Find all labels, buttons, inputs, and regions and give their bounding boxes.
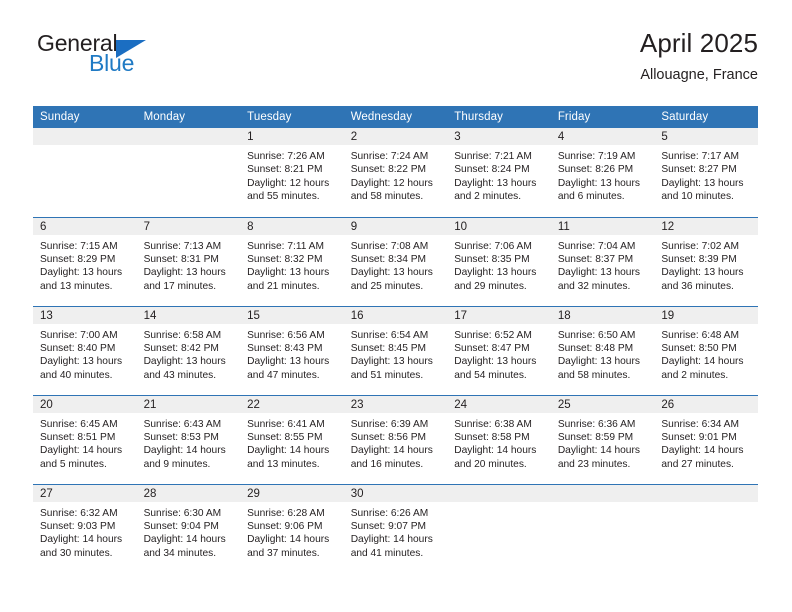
sunrise-text: Sunrise: 7:21 AM — [454, 150, 545, 163]
calendar-cell-day-8[interactable]: 8Sunrise: 7:11 AMSunset: 8:32 PMDaylight… — [240, 217, 344, 306]
daylight-text-line2: and 10 minutes. — [661, 190, 752, 203]
day-details: Sunrise: 7:06 AMSunset: 8:35 PMDaylight:… — [447, 235, 551, 294]
sunset-text: Sunset: 8:34 PM — [351, 253, 442, 266]
day-details: Sunrise: 7:19 AMSunset: 8:26 PMDaylight:… — [551, 145, 655, 204]
daylight-text-line2: and 51 minutes. — [351, 369, 442, 382]
daylight-text-line1: Daylight: 13 hours — [247, 355, 338, 368]
sunrise-text: Sunrise: 7:08 AM — [351, 240, 442, 253]
sunrise-text: Sunrise: 7:11 AM — [247, 240, 338, 253]
brand-logo[interactable]: General Blue — [33, 28, 273, 88]
day-number: 14 — [137, 307, 241, 324]
day-details: Sunrise: 7:17 AMSunset: 8:27 PMDaylight:… — [654, 145, 758, 204]
day-details: Sunrise: 6:36 AMSunset: 8:59 PMDaylight:… — [551, 413, 655, 472]
day-number: 26 — [654, 396, 758, 413]
day-number: 13 — [33, 307, 137, 324]
calendar-cell-empty — [654, 484, 758, 573]
calendar-cell-day-23[interactable]: 23Sunrise: 6:39 AMSunset: 8:56 PMDayligh… — [344, 395, 448, 484]
day-details: Sunrise: 7:08 AMSunset: 8:34 PMDaylight:… — [344, 235, 448, 294]
day-number: 7 — [137, 218, 241, 235]
daylight-text-line1: Daylight: 13 hours — [144, 266, 235, 279]
calendar-cell-day-22[interactable]: 22Sunrise: 6:41 AMSunset: 8:55 PMDayligh… — [240, 395, 344, 484]
day-details: Sunrise: 7:00 AMSunset: 8:40 PMDaylight:… — [33, 324, 137, 383]
calendar-cell-day-5[interactable]: 5Sunrise: 7:17 AMSunset: 8:27 PMDaylight… — [654, 128, 758, 217]
day-details: Sunrise: 6:30 AMSunset: 9:04 PMDaylight:… — [137, 502, 241, 561]
sunset-text: Sunset: 8:59 PM — [558, 431, 649, 444]
day-number: 27 — [33, 485, 137, 502]
day-number: 2 — [344, 128, 448, 145]
calendar-cell-day-16[interactable]: 16Sunrise: 6:54 AMSunset: 8:45 PMDayligh… — [344, 306, 448, 395]
day-details: Sunrise: 7:11 AMSunset: 8:32 PMDaylight:… — [240, 235, 344, 294]
calendar-cell-day-19[interactable]: 19Sunrise: 6:48 AMSunset: 8:50 PMDayligh… — [654, 306, 758, 395]
day-details: Sunrise: 6:56 AMSunset: 8:43 PMDaylight:… — [240, 324, 344, 383]
calendar-cell-day-11[interactable]: 11Sunrise: 7:04 AMSunset: 8:37 PMDayligh… — [551, 217, 655, 306]
daylight-text-line2: and 23 minutes. — [558, 458, 649, 471]
day-number: 10 — [447, 218, 551, 235]
sunset-text: Sunset: 8:31 PM — [144, 253, 235, 266]
weekday-header-sunday: Sunday — [33, 106, 137, 128]
daylight-text-line1: Daylight: 13 hours — [454, 355, 545, 368]
day-details: Sunrise: 7:02 AMSunset: 8:39 PMDaylight:… — [654, 235, 758, 294]
daylight-text-line1: Daylight: 13 hours — [247, 266, 338, 279]
calendar-cell-day-3[interactable]: 3Sunrise: 7:21 AMSunset: 8:24 PMDaylight… — [447, 128, 551, 217]
sunset-text: Sunset: 8:55 PM — [247, 431, 338, 444]
calendar-cell-empty — [137, 128, 241, 217]
calendar-body: 1Sunrise: 7:26 AMSunset: 8:21 PMDaylight… — [33, 128, 758, 573]
calendar-cell-empty — [447, 484, 551, 573]
calendar-cell-empty — [33, 128, 137, 217]
daylight-text-line2: and 9 minutes. — [144, 458, 235, 471]
day-number — [33, 128, 137, 145]
day-details: Sunrise: 6:32 AMSunset: 9:03 PMDaylight:… — [33, 502, 137, 561]
sunset-text: Sunset: 9:07 PM — [351, 520, 442, 533]
sunrise-text: Sunrise: 7:00 AM — [40, 329, 131, 342]
calendar-cell-day-18[interactable]: 18Sunrise: 6:50 AMSunset: 8:48 PMDayligh… — [551, 306, 655, 395]
day-number: 19 — [654, 307, 758, 324]
sunset-text: Sunset: 8:43 PM — [247, 342, 338, 355]
calendar-week-row: 1Sunrise: 7:26 AMSunset: 8:21 PMDaylight… — [33, 128, 758, 217]
calendar-cell-day-20[interactable]: 20Sunrise: 6:45 AMSunset: 8:51 PMDayligh… — [33, 395, 137, 484]
daylight-text-line2: and 41 minutes. — [351, 547, 442, 560]
sunset-text: Sunset: 8:42 PM — [144, 342, 235, 355]
daylight-text-line2: and 32 minutes. — [558, 280, 649, 293]
daylight-text-line1: Daylight: 12 hours — [351, 177, 442, 190]
day-details: Sunrise: 6:48 AMSunset: 8:50 PMDaylight:… — [654, 324, 758, 383]
day-number: 5 — [654, 128, 758, 145]
daylight-text-line1: Daylight: 13 hours — [661, 177, 752, 190]
daylight-text-line2: and 17 minutes. — [144, 280, 235, 293]
daylight-text-line1: Daylight: 13 hours — [40, 266, 131, 279]
sunrise-text: Sunrise: 6:45 AM — [40, 418, 131, 431]
calendar-week-row: 27Sunrise: 6:32 AMSunset: 9:03 PMDayligh… — [33, 484, 758, 573]
calendar-week-row: 13Sunrise: 7:00 AMSunset: 8:40 PMDayligh… — [33, 306, 758, 395]
sunrise-text: Sunrise: 6:30 AM — [144, 507, 235, 520]
sunrise-text: Sunrise: 7:24 AM — [351, 150, 442, 163]
day-details: Sunrise: 6:34 AMSunset: 9:01 PMDaylight:… — [654, 413, 758, 472]
sunrise-text: Sunrise: 6:52 AM — [454, 329, 545, 342]
sunset-text: Sunset: 9:01 PM — [661, 431, 752, 444]
sunrise-text: Sunrise: 6:28 AM — [247, 507, 338, 520]
day-details: Sunrise: 6:43 AMSunset: 8:53 PMDaylight:… — [137, 413, 241, 472]
day-details: Sunrise: 6:50 AMSunset: 8:48 PMDaylight:… — [551, 324, 655, 383]
sunrise-text: Sunrise: 7:15 AM — [40, 240, 131, 253]
day-number — [551, 485, 655, 502]
daylight-text-line2: and 37 minutes. — [247, 547, 338, 560]
daylight-text-line2: and 30 minutes. — [40, 547, 131, 560]
daylight-text-line2: and 13 minutes. — [40, 280, 131, 293]
day-details: Sunrise: 6:39 AMSunset: 8:56 PMDaylight:… — [344, 413, 448, 472]
calendar-cell-day-29[interactable]: 29Sunrise: 6:28 AMSunset: 9:06 PMDayligh… — [240, 484, 344, 573]
page-header: General Blue April 2025 Allouagne, Franc… — [33, 28, 758, 90]
day-number: 16 — [344, 307, 448, 324]
day-number: 15 — [240, 307, 344, 324]
daylight-text-line2: and 25 minutes. — [351, 280, 442, 293]
day-number: 4 — [551, 128, 655, 145]
daylight-text-line1: Daylight: 14 hours — [247, 444, 338, 457]
calendar-cell-day-27[interactable]: 27Sunrise: 6:32 AMSunset: 9:03 PMDayligh… — [33, 484, 137, 573]
calendar-cell-day-2[interactable]: 2Sunrise: 7:24 AMSunset: 8:22 PMDaylight… — [344, 128, 448, 217]
day-details: Sunrise: 7:15 AMSunset: 8:29 PMDaylight:… — [33, 235, 137, 294]
daylight-text-line2: and 58 minutes. — [558, 369, 649, 382]
daylight-text-line1: Daylight: 13 hours — [351, 266, 442, 279]
sunset-text: Sunset: 8:40 PM — [40, 342, 131, 355]
calendar-week-row: 20Sunrise: 6:45 AMSunset: 8:51 PMDayligh… — [33, 395, 758, 484]
sunset-text: Sunset: 8:35 PM — [454, 253, 545, 266]
sunset-text: Sunset: 8:24 PM — [454, 163, 545, 176]
daylight-text-line1: Daylight: 13 hours — [558, 177, 649, 190]
weekday-header-wednesday: Wednesday — [344, 106, 448, 128]
day-number: 12 — [654, 218, 758, 235]
day-details: Sunrise: 6:58 AMSunset: 8:42 PMDaylight:… — [137, 324, 241, 383]
sunrise-text: Sunrise: 6:34 AM — [661, 418, 752, 431]
day-number: 20 — [33, 396, 137, 413]
day-details: Sunrise: 6:54 AMSunset: 8:45 PMDaylight:… — [344, 324, 448, 383]
weekday-header-thursday: Thursday — [447, 106, 551, 128]
daylight-text-line2: and 55 minutes. — [247, 190, 338, 203]
day-details: Sunrise: 6:41 AMSunset: 8:55 PMDaylight:… — [240, 413, 344, 472]
day-details: Sunrise: 7:26 AMSunset: 8:21 PMDaylight:… — [240, 145, 344, 204]
daylight-text-line2: and 36 minutes. — [661, 280, 752, 293]
sunrise-text: Sunrise: 7:02 AM — [661, 240, 752, 253]
daylight-text-line1: Daylight: 14 hours — [144, 533, 235, 546]
calendar-cell-day-4[interactable]: 4Sunrise: 7:19 AMSunset: 8:26 PMDaylight… — [551, 128, 655, 217]
daylight-text-line1: Daylight: 13 hours — [454, 177, 545, 190]
sunrise-text: Sunrise: 6:32 AM — [40, 507, 131, 520]
sunrise-text: Sunrise: 6:54 AM — [351, 329, 442, 342]
sunrise-text: Sunrise: 6:26 AM — [351, 507, 442, 520]
sunset-text: Sunset: 8:45 PM — [351, 342, 442, 355]
day-number: 30 — [344, 485, 448, 502]
daylight-text-line1: Daylight: 13 hours — [454, 266, 545, 279]
sunrise-text: Sunrise: 6:36 AM — [558, 418, 649, 431]
sunrise-text: Sunrise: 6:43 AM — [144, 418, 235, 431]
calendar-cell-day-9[interactable]: 9Sunrise: 7:08 AMSunset: 8:34 PMDaylight… — [344, 217, 448, 306]
sunrise-text: Sunrise: 6:50 AM — [558, 329, 649, 342]
sunset-text: Sunset: 8:47 PM — [454, 342, 545, 355]
sunset-text: Sunset: 8:21 PM — [247, 163, 338, 176]
calendar-cell-day-12[interactable]: 12Sunrise: 7:02 AMSunset: 8:39 PMDayligh… — [654, 217, 758, 306]
sunrise-text: Sunrise: 7:17 AM — [661, 150, 752, 163]
daylight-text-line1: Daylight: 14 hours — [351, 444, 442, 457]
daylight-text-line1: Daylight: 14 hours — [661, 444, 752, 457]
sunset-text: Sunset: 8:29 PM — [40, 253, 131, 266]
sunrise-text: Sunrise: 6:48 AM — [661, 329, 752, 342]
page-subtitle: Allouagne, France — [640, 64, 758, 86]
weekday-header-monday: Monday — [137, 106, 241, 128]
day-number — [447, 485, 551, 502]
day-number: 24 — [447, 396, 551, 413]
daylight-text-line1: Daylight: 14 hours — [40, 444, 131, 457]
daylight-text-line2: and 20 minutes. — [454, 458, 545, 471]
sunset-text: Sunset: 8:58 PM — [454, 431, 545, 444]
daylight-text-line2: and 2 minutes. — [661, 369, 752, 382]
daylight-text-line2: and 47 minutes. — [247, 369, 338, 382]
sunset-text: Sunset: 8:50 PM — [661, 342, 752, 355]
day-number — [137, 128, 241, 145]
title-block: April 2025 Allouagne, France — [640, 26, 758, 86]
sunset-text: Sunset: 8:22 PM — [351, 163, 442, 176]
day-number: 11 — [551, 218, 655, 235]
day-number: 6 — [33, 218, 137, 235]
calendar-cell-day-30[interactable]: 30Sunrise: 6:26 AMSunset: 9:07 PMDayligh… — [344, 484, 448, 573]
calendar-cell-day-25[interactable]: 25Sunrise: 6:36 AMSunset: 8:59 PMDayligh… — [551, 395, 655, 484]
day-number: 3 — [447, 128, 551, 145]
calendar-cell-day-26[interactable]: 26Sunrise: 6:34 AMSunset: 9:01 PMDayligh… — [654, 395, 758, 484]
daylight-text-line2: and 34 minutes. — [144, 547, 235, 560]
day-number: 9 — [344, 218, 448, 235]
calendar-page: General Blue April 2025 Allouagne, Franc… — [0, 0, 792, 612]
daylight-text-line1: Daylight: 14 hours — [661, 355, 752, 368]
daylight-text-line2: and 21 minutes. — [247, 280, 338, 293]
daylight-text-line2: and 40 minutes. — [40, 369, 131, 382]
weekday-header-tuesday: Tuesday — [240, 106, 344, 128]
day-number — [654, 485, 758, 502]
sunset-text: Sunset: 9:03 PM — [40, 520, 131, 533]
calendar-cell-day-7[interactable]: 7Sunrise: 7:13 AMSunset: 8:31 PMDaylight… — [137, 217, 241, 306]
daylight-text-line2: and 16 minutes. — [351, 458, 442, 471]
daylight-text-line1: Daylight: 14 hours — [558, 444, 649, 457]
daylight-text-line1: Daylight: 12 hours — [247, 177, 338, 190]
calendar-cell-day-17[interactable]: 17Sunrise: 6:52 AMSunset: 8:47 PMDayligh… — [447, 306, 551, 395]
day-details: Sunrise: 6:28 AMSunset: 9:06 PMDaylight:… — [240, 502, 344, 561]
page-title: April 2025 — [640, 26, 758, 60]
weekday-header-friday: Friday — [551, 106, 655, 128]
sunset-text: Sunset: 8:32 PM — [247, 253, 338, 266]
day-number: 8 — [240, 218, 344, 235]
daylight-text-line2: and 5 minutes. — [40, 458, 131, 471]
calendar-header-row: SundayMondayTuesdayWednesdayThursdayFrid… — [33, 106, 758, 128]
sunrise-text: Sunrise: 7:13 AM — [144, 240, 235, 253]
sunset-text: Sunset: 8:53 PM — [144, 431, 235, 444]
daylight-text-line1: Daylight: 14 hours — [144, 444, 235, 457]
sunset-text: Sunset: 8:37 PM — [558, 253, 649, 266]
calendar-cell-empty — [551, 484, 655, 573]
sunrise-text: Sunrise: 7:26 AM — [247, 150, 338, 163]
day-number: 28 — [137, 485, 241, 502]
daylight-text-line1: Daylight: 13 hours — [558, 355, 649, 368]
calendar-cell-day-24[interactable]: 24Sunrise: 6:38 AMSunset: 8:58 PMDayligh… — [447, 395, 551, 484]
daylight-text-line1: Daylight: 13 hours — [40, 355, 131, 368]
daylight-text-line1: Daylight: 13 hours — [351, 355, 442, 368]
day-number: 18 — [551, 307, 655, 324]
daylight-text-line1: Daylight: 13 hours — [558, 266, 649, 279]
sunrise-text: Sunrise: 7:06 AM — [454, 240, 545, 253]
day-number: 23 — [344, 396, 448, 413]
daylight-text-line1: Daylight: 14 hours — [351, 533, 442, 546]
sunrise-text: Sunrise: 6:58 AM — [144, 329, 235, 342]
day-details: Sunrise: 6:38 AMSunset: 8:58 PMDaylight:… — [447, 413, 551, 472]
sunrise-text: Sunrise: 7:04 AM — [558, 240, 649, 253]
calendar-cell-day-15[interactable]: 15Sunrise: 6:56 AMSunset: 8:43 PMDayligh… — [240, 306, 344, 395]
sunset-text: Sunset: 9:06 PM — [247, 520, 338, 533]
day-details: Sunrise: 7:04 AMSunset: 8:37 PMDaylight:… — [551, 235, 655, 294]
sunset-text: Sunset: 8:48 PM — [558, 342, 649, 355]
daylight-text-line2: and 43 minutes. — [144, 369, 235, 382]
day-number: 1 — [240, 128, 344, 145]
daylight-text-line1: Daylight: 13 hours — [144, 355, 235, 368]
day-number: 22 — [240, 396, 344, 413]
daylight-text-line2: and 6 minutes. — [558, 190, 649, 203]
day-details: Sunrise: 6:26 AMSunset: 9:07 PMDaylight:… — [344, 502, 448, 561]
sunrise-text: Sunrise: 6:39 AM — [351, 418, 442, 431]
calendar-cell-day-21[interactable]: 21Sunrise: 6:43 AMSunset: 8:53 PMDayligh… — [137, 395, 241, 484]
sunset-text: Sunset: 8:26 PM — [558, 163, 649, 176]
sunset-text: Sunset: 8:51 PM — [40, 431, 131, 444]
daylight-text-line2: and 29 minutes. — [454, 280, 545, 293]
calendar-cell-day-6[interactable]: 6Sunrise: 7:15 AMSunset: 8:29 PMDaylight… — [33, 217, 137, 306]
daylight-text-line1: Daylight: 13 hours — [661, 266, 752, 279]
daylight-text-line2: and 27 minutes. — [661, 458, 752, 471]
daylight-text-line1: Daylight: 14 hours — [40, 533, 131, 546]
calendar-cell-day-13[interactable]: 13Sunrise: 7:00 AMSunset: 8:40 PMDayligh… — [33, 306, 137, 395]
day-details: Sunrise: 7:24 AMSunset: 8:22 PMDaylight:… — [344, 145, 448, 204]
sunrise-text: Sunrise: 6:56 AM — [247, 329, 338, 342]
day-number: 25 — [551, 396, 655, 413]
daylight-text-line2: and 2 minutes. — [454, 190, 545, 203]
day-details: Sunrise: 7:21 AMSunset: 8:24 PMDaylight:… — [447, 145, 551, 204]
brand-name-bottom: Blue — [89, 50, 134, 76]
day-details: Sunrise: 6:45 AMSunset: 8:51 PMDaylight:… — [33, 413, 137, 472]
calendar-cell-day-28[interactable]: 28Sunrise: 6:30 AMSunset: 9:04 PMDayligh… — [137, 484, 241, 573]
day-number: 17 — [447, 307, 551, 324]
sunset-text: Sunset: 8:56 PM — [351, 431, 442, 444]
day-number: 21 — [137, 396, 241, 413]
sunrise-text: Sunrise: 6:41 AM — [247, 418, 338, 431]
sunset-text: Sunset: 9:04 PM — [144, 520, 235, 533]
sunrise-text: Sunrise: 6:38 AM — [454, 418, 545, 431]
day-details: Sunrise: 6:52 AMSunset: 8:47 PMDaylight:… — [447, 324, 551, 383]
daylight-text-line2: and 54 minutes. — [454, 369, 545, 382]
sunrise-text: Sunrise: 7:19 AM — [558, 150, 649, 163]
sunset-text: Sunset: 8:39 PM — [661, 253, 752, 266]
calendar-cell-day-1[interactable]: 1Sunrise: 7:26 AMSunset: 8:21 PMDaylight… — [240, 128, 344, 217]
day-details: Sunrise: 7:13 AMSunset: 8:31 PMDaylight:… — [137, 235, 241, 294]
calendar-table: SundayMondayTuesdayWednesdayThursdayFrid… — [33, 106, 758, 573]
daylight-text-line2: and 58 minutes. — [351, 190, 442, 203]
weekday-header-saturday: Saturday — [654, 106, 758, 128]
sunset-text: Sunset: 8:27 PM — [661, 163, 752, 176]
daylight-text-line1: Daylight: 14 hours — [454, 444, 545, 457]
calendar-cell-day-10[interactable]: 10Sunrise: 7:06 AMSunset: 8:35 PMDayligh… — [447, 217, 551, 306]
daylight-text-line2: and 13 minutes. — [247, 458, 338, 471]
daylight-text-line1: Daylight: 14 hours — [247, 533, 338, 546]
day-number: 29 — [240, 485, 344, 502]
calendar-week-row: 6Sunrise: 7:15 AMSunset: 8:29 PMDaylight… — [33, 217, 758, 306]
calendar-cell-day-14[interactable]: 14Sunrise: 6:58 AMSunset: 8:42 PMDayligh… — [137, 306, 241, 395]
